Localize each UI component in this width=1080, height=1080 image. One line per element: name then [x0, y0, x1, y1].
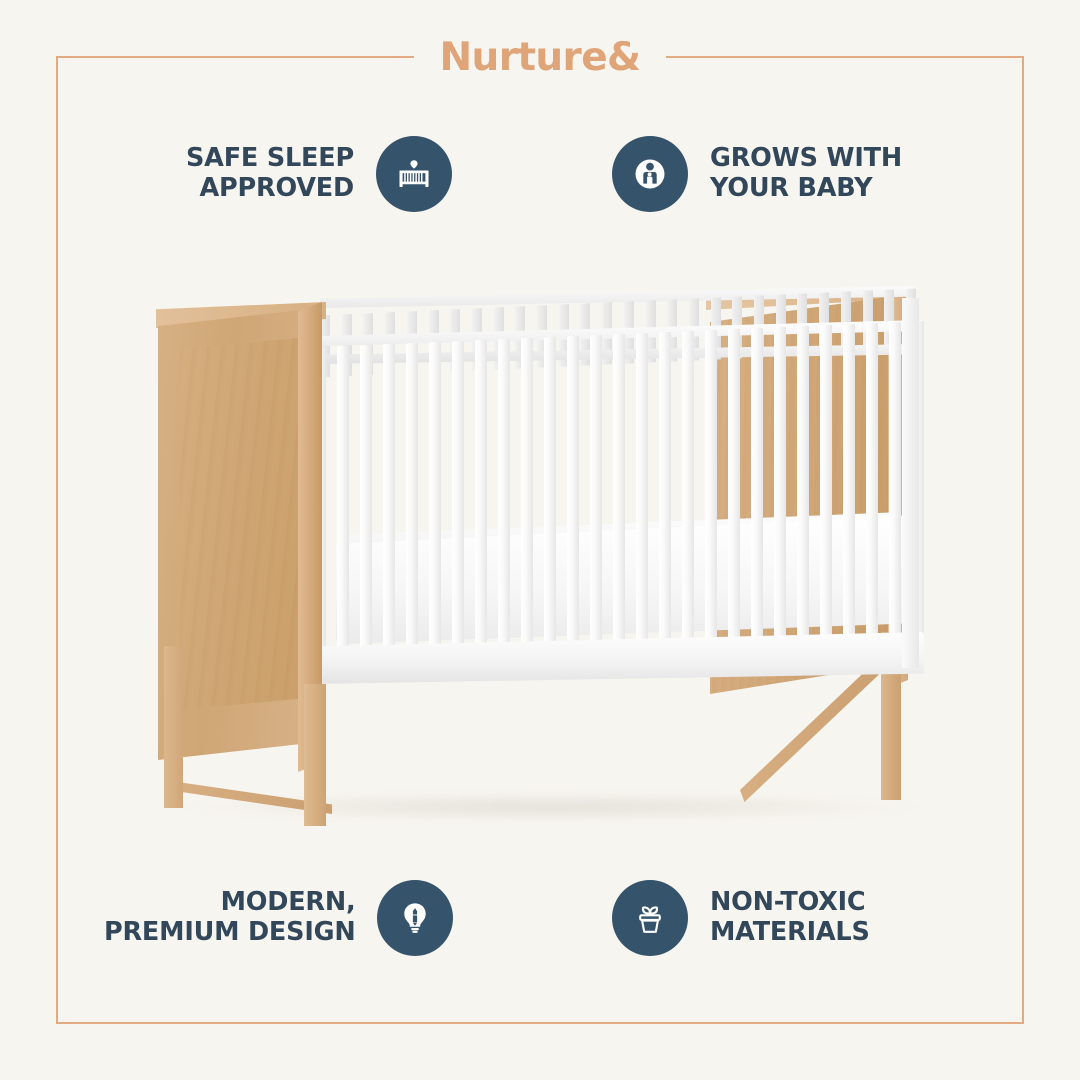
feature-label-grows-with-baby: GROWS WITH YOUR BABY	[710, 144, 902, 204]
feature-label-safe-sleep: SAFE SLEEP APPROVED	[186, 144, 354, 204]
crib-heart-icon	[376, 136, 452, 212]
brand-logo: Nurture&	[0, 26, 1080, 88]
potted-plant-icon	[612, 880, 688, 956]
crib-front-rail-slats	[314, 321, 924, 678]
crib-front-rail	[314, 320, 924, 700]
lightbulb-pencil-icon	[377, 880, 453, 956]
feature-grows-with-your-baby: GROWS WITH YOUR BABY	[612, 136, 902, 212]
brand-logo-plate: Nurture&	[414, 38, 667, 77]
crib-left-leg-back-post	[164, 646, 183, 808]
feature-safe-sleep-approved: SAFE SLEEP APPROVED	[186, 136, 452, 212]
crib-left-leg-front-post	[304, 684, 326, 826]
feature-modern-premium-design: MODERN, PREMIUM DESIGN	[104, 880, 453, 956]
feature-label-modern-premium-design: MODERN, PREMIUM DESIGN	[104, 888, 355, 948]
feature-label-non-toxic-materials: NON-TOXIC MATERIALS	[710, 888, 870, 948]
brand-name: Nurture&	[440, 38, 641, 77]
feature-non-toxic-materials: NON-TOXIC MATERIALS	[612, 880, 870, 956]
crib-left-wood-panel-inset	[180, 338, 298, 710]
crib-front-right-post	[902, 298, 919, 668]
parent-and-baby-icon	[612, 136, 688, 212]
product-image-crib	[150, 280, 940, 820]
